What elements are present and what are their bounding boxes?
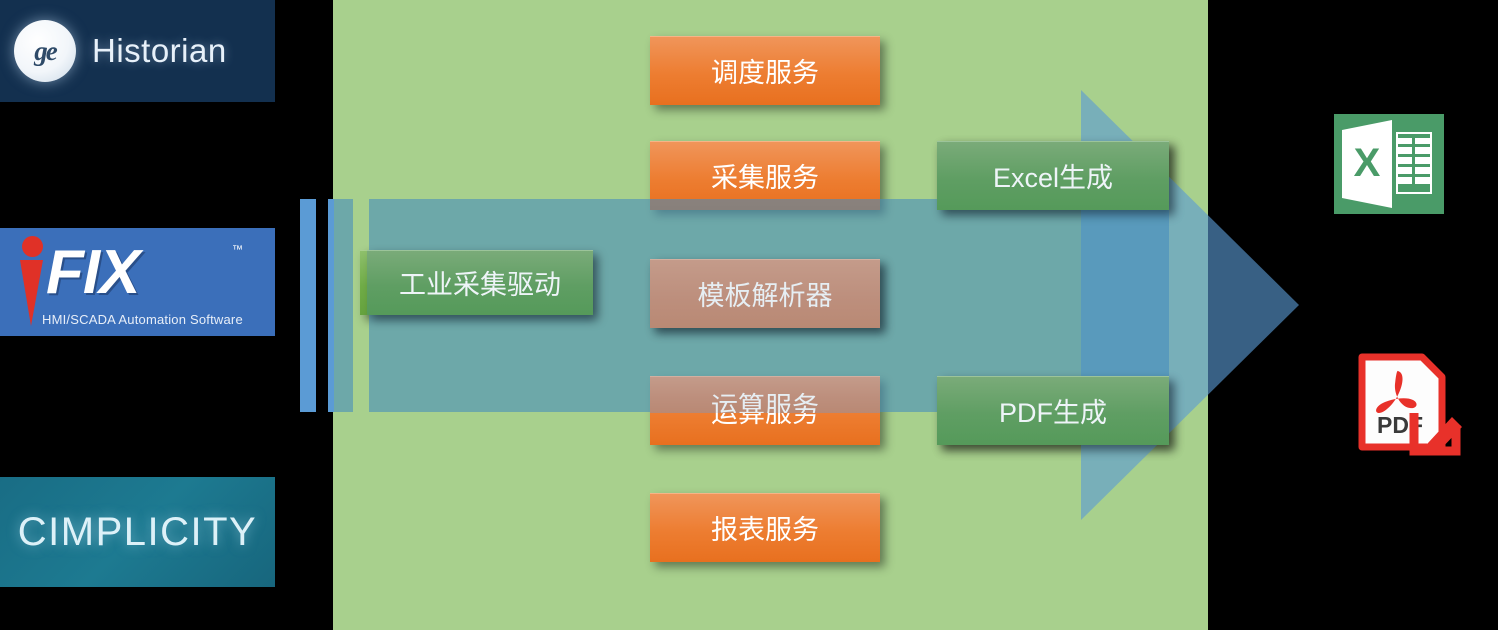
generator-label-pdf-overlay: PDF生成 bbox=[999, 391, 1107, 430]
connector-bar-outer bbox=[300, 199, 316, 412]
svg-text:X: X bbox=[1354, 141, 1381, 185]
diagram-canvas: ge Historian FIX ™ HMI/SCADA Automation … bbox=[0, 0, 1498, 630]
service-label-compute-overlay: 运算服务 bbox=[650, 385, 880, 413]
historian-wordmark: Historian bbox=[92, 32, 227, 70]
ifix-i-glyph-icon bbox=[16, 236, 50, 324]
service-box-template-parser-overlay[interactable]: 模板解析器 bbox=[650, 259, 880, 328]
excel-icon: X bbox=[1334, 114, 1444, 214]
ge-monogram-icon: ge bbox=[14, 20, 76, 82]
ge-monogram-text: ge bbox=[34, 36, 55, 67]
dataflow-band-stub bbox=[334, 199, 353, 412]
service-box-compute-overlay[interactable]: 运算服务 bbox=[650, 376, 880, 413]
driver-label-overlay: 工业采集驱动 bbox=[399, 263, 561, 302]
service-label-template-parser-overlay: 模板解析器 bbox=[698, 274, 833, 313]
service-label-collection: 采集服务 bbox=[711, 156, 819, 195]
service-box-report[interactable]: 报表服务 bbox=[650, 493, 880, 562]
ifix-trademark-symbol: ™ bbox=[232, 244, 243, 256]
generator-label-excel-overlay: Excel生成 bbox=[993, 156, 1113, 195]
cimplicity-wordmark: CIMPLICITY bbox=[18, 510, 257, 555]
driver-box-overlay[interactable]: 工业采集驱动 bbox=[367, 250, 593, 315]
service-box-scheduling[interactable]: 调度服务 bbox=[650, 36, 880, 105]
ifix-wordmark: FIX bbox=[46, 237, 139, 308]
logo-cimplicity: CIMPLICITY bbox=[0, 477, 275, 587]
logo-historian: ge Historian bbox=[0, 0, 275, 102]
logo-ifix: FIX ™ HMI/SCADA Automation Software bbox=[0, 228, 275, 336]
service-label-report: 报表服务 bbox=[711, 508, 819, 547]
ifix-tagline: HMI/SCADA Automation Software bbox=[42, 312, 243, 327]
pdf-icon: PDF bbox=[1356, 351, 1466, 457]
generator-box-excel-overlay[interactable]: Excel生成 bbox=[937, 141, 1169, 210]
generator-box-pdf-overlay[interactable]: PDF生成 bbox=[937, 376, 1169, 445]
service-label-scheduling: 调度服务 bbox=[711, 51, 819, 90]
